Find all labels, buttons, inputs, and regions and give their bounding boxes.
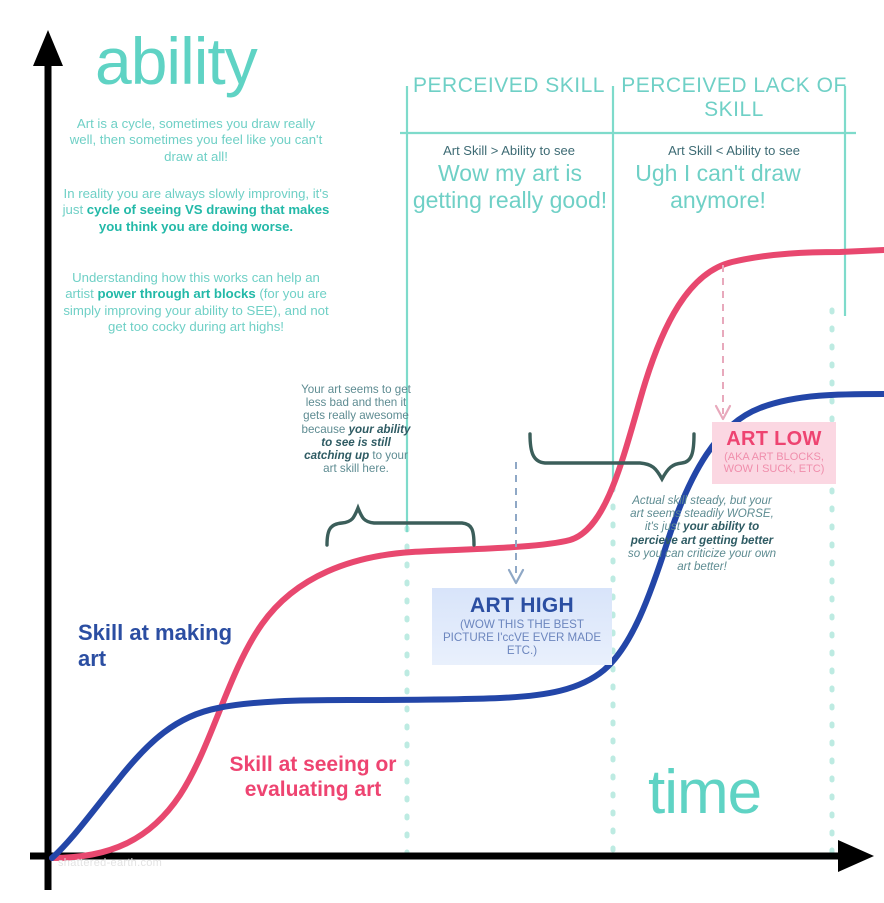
callout-art-low-subtitle: (AKA ART BLOCKS, WOW I SUCK, ETC) (718, 451, 830, 476)
brace-left (327, 508, 474, 545)
y-axis-title: ability (95, 28, 425, 94)
annotation-right: Actual skill steady, but your art seems … (626, 494, 778, 573)
x-axis-arrowhead (838, 840, 874, 872)
annotation-left: Your art seems to get less bad and then … (300, 383, 412, 475)
y-axis-arrowhead (33, 30, 63, 66)
annotation-right-tail: so you can criticize your own art better… (628, 547, 776, 573)
callout-art-high: ART HIGH (WOW THIS THE BEST PICTURE I'cc… (432, 588, 612, 665)
column-subtitle-perceived-skill: Art Skill > Ability to see (410, 143, 608, 158)
callout-art-low-title: ART LOW (718, 428, 830, 450)
intro-paragraph-2: In reality you are always slowly improvi… (62, 186, 330, 235)
series-label-seeing-art: Skill at seeing or evaluating art (208, 752, 418, 802)
intro-paragraph-3: Understanding how this works can help an… (62, 270, 330, 336)
intro-2-emphasis: cycle of seeing VS drawing that makes yo… (87, 202, 330, 233)
infographic-canvas: ability time Art is a cycle, sometimes y… (0, 0, 884, 903)
series-label-making-art: Skill at making art (78, 620, 248, 672)
watermark: shattered-earth.com (58, 857, 162, 869)
callout-art-high-title: ART HIGH (438, 594, 606, 617)
intro-3-emphasis: power through art blocks (97, 286, 255, 301)
column-quote-perceived-skill: Wow my art is getting really good! (412, 160, 608, 214)
column-quote-perceived-lack-of-skill: Ugh I can't draw anymore! (620, 160, 816, 214)
column-subtitle-perceived-lack-of-skill: Art Skill < Ability to see (616, 143, 852, 158)
callout-art-high-subtitle: (WOW THIS THE BEST PICTURE I'ccVE EVER M… (438, 618, 606, 657)
x-axis-title: time (648, 762, 878, 824)
callout-art-low: ART LOW (AKA ART BLOCKS, WOW I SUCK, ETC… (712, 422, 836, 484)
column-header-perceived-lack-of-skill: PERCEIVED LACK OF SKILL (616, 74, 852, 122)
column-header-perceived-skill: PERCEIVED SKILL (410, 74, 608, 98)
leader-art-high (509, 462, 523, 583)
leader-art-low (716, 265, 730, 419)
intro-paragraph-1: Art is a cycle, sometimes you draw reall… (62, 116, 330, 165)
